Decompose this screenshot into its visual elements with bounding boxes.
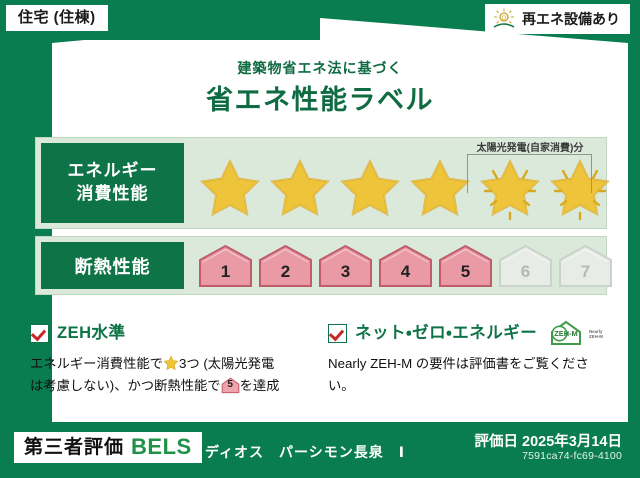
footer-bar: 第三者評価 BELS ディオス パーシモン長泉 Ⅰ 評価日 2025年3月14日… <box>0 422 640 478</box>
evaluation-date: 評価日 2025年3月14日 <box>475 430 622 451</box>
bels-certification-box: 第三者評価 BELS <box>14 432 202 463</box>
zeh-text-b: 3つ (太陽光発電 <box>179 356 274 371</box>
star-icon <box>337 157 403 221</box>
building-type-tag: 住宅 (住棟) <box>6 5 108 31</box>
insulation-level-value: 4 <box>401 262 410 289</box>
insulation-badge-icon: 5 <box>221 377 240 394</box>
insulation-performance-panel: 断熱性能 1 2 3 4 5 6 7 <box>35 236 607 295</box>
svg-text:ZEH-M: ZEH-M <box>555 329 578 338</box>
nze-heading-row: ネット・ゼロ・エネルギー ZEH-M Nearly ZEH-M <box>328 320 613 347</box>
insulation-level-value: 2 <box>281 262 290 289</box>
insulation-level-4: 4 <box>377 243 434 289</box>
zeh-m-logo-icon: ZEH-M Nearly ZEH-M <box>549 320 611 347</box>
insulation-level-1: 1 <box>197 243 254 289</box>
energy-performance-label: エネルギー 消費性能 <box>41 143 184 223</box>
star-icon <box>267 157 333 221</box>
building-name: ディオス パーシモン長泉 Ⅰ <box>205 442 405 462</box>
zeh-text-a: エネルギー消費性能で <box>30 356 163 371</box>
check-icon <box>328 324 347 343</box>
zeh-description: エネルギー消費性能で3つ (太陽光発電は考慮しない)、かつ断熱性能で5を達成 <box>30 353 320 397</box>
bels-label-ja: 第三者評価 <box>24 438 124 457</box>
nze-description: Nearly ZEH-M の要件は評価書をご覧ください。 <box>328 353 613 397</box>
insulation-level-6: 6 <box>497 243 554 289</box>
star-icon <box>163 355 179 371</box>
energy-performance-panel: エネルギー 消費性能 <box>35 137 607 229</box>
energy-label-line2: 消費性能 <box>77 183 149 206</box>
evaluation-id: 7591ca74-fc69-4100 <box>522 450 622 462</box>
star-icon <box>407 157 473 221</box>
insulation-level-5: 5 <box>437 243 494 289</box>
star-icon <box>197 157 263 221</box>
renewable-badge-label: 再エネ設備あり <box>522 12 620 26</box>
insulation-performance-label: 断熱性能 <box>41 242 184 289</box>
star-rating <box>197 154 602 224</box>
svg-text:D: D <box>502 16 507 22</box>
energy-label-card: 住宅 (住棟) D 再エネ設備あり 建築物省エネ法に基づく 省エネ性能ラベル エ… <box>0 0 640 478</box>
label-title: 省エネ性能ラベル <box>0 78 640 117</box>
insulation-level-value: 7 <box>581 262 590 289</box>
insulation-level-value: 3 <box>341 262 350 289</box>
energy-panel-body: 太陽光発電(自家消費)分 <box>189 138 606 228</box>
insulation-level-3: 3 <box>317 243 374 289</box>
star-icon-solar <box>547 157 613 221</box>
nze-heading: ネット・ゼロ・エネルギー <box>355 320 537 347</box>
net-zero-energy-section: ネット・ゼロ・エネルギー ZEH-M Nearly ZEH-M Nearly Z… <box>328 320 613 397</box>
zeh-heading-row: ZEH水準 <box>30 320 320 347</box>
star-icon-solar <box>477 157 543 221</box>
solar-generation-note: 太陽光発電(自家消費)分 <box>455 139 605 154</box>
svg-text:ZEH-M: ZEH-M <box>589 334 603 339</box>
insulation-level-scale: 1 2 3 4 5 6 7 <box>197 240 600 291</box>
insulation-panel-body: 1 2 3 4 5 6 7 <box>189 237 606 294</box>
insulation-level-value: 1 <box>221 262 230 289</box>
bels-label-en: BELS <box>131 436 192 458</box>
zeh-text-d: を達成 <box>240 378 280 393</box>
zeh-heading: ZEH水準 <box>57 320 126 347</box>
insulation-level-value: 6 <box>521 262 530 289</box>
insulation-level-value: 5 <box>461 262 470 289</box>
check-icon <box>30 324 49 343</box>
insulation-badge-value: 5 <box>221 377 240 394</box>
renewable-equipment-badge: D 再エネ設備あり <box>485 4 630 34</box>
insulation-level-2: 2 <box>257 243 314 289</box>
insulation-level-7: 7 <box>557 243 614 289</box>
sun-icon: D <box>491 8 517 30</box>
zeh-standard-section: ZEH水準 エネルギー消費性能で3つ (太陽光発電は考慮しない)、かつ断熱性能で… <box>30 320 320 397</box>
zeh-text-c: は考慮しない)、かつ断熱性能で <box>30 378 221 393</box>
label-subtitle: 建築物省エネ法に基づく <box>0 58 640 78</box>
energy-label-line1: エネルギー <box>68 160 158 183</box>
